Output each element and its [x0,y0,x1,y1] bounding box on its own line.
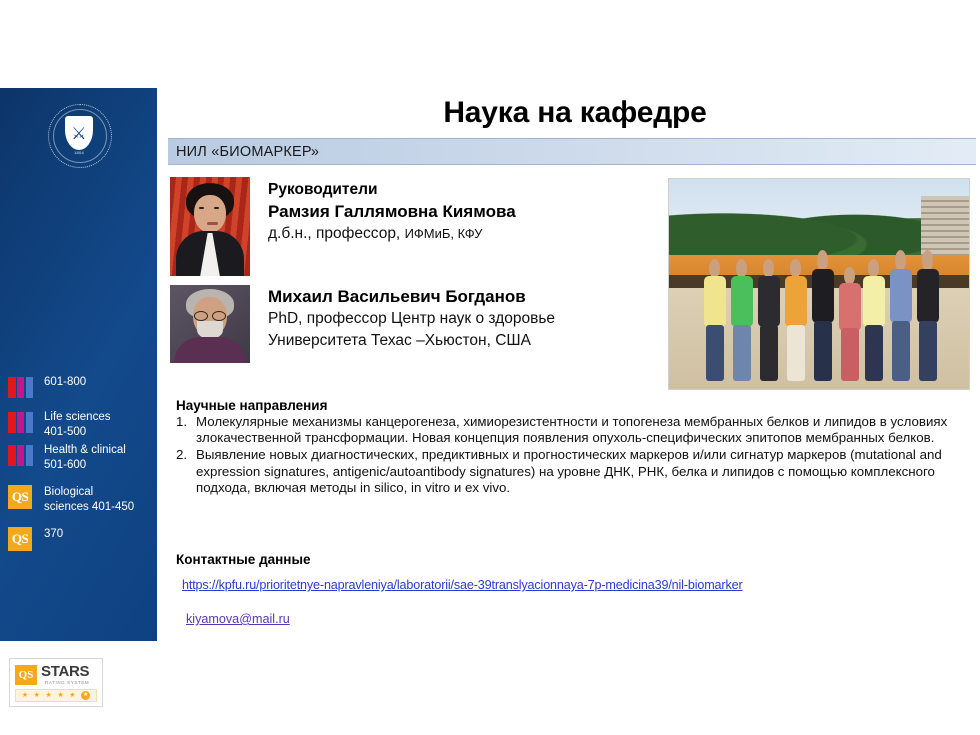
direction-number: 1. [176,414,196,446]
contacts-heading: Контактные данные [176,552,311,567]
direction-item: 2. Выявление новых диагностических, пред… [176,447,971,496]
leader-affiliation-text: ИФМиБ, КФУ [405,226,483,241]
ranking-line: Life sciences [44,410,110,425]
ranking-row-qs-biological-sciences: QS Biological sciences 401-450 [8,484,157,515]
direction-text: Выявление новых диагностических, предикт… [196,447,971,496]
qs-logo-icon: QS [8,485,32,509]
ranking-text: 370 [44,526,63,542]
star-icon: ★ [57,692,63,699]
photo-person [702,259,727,381]
qs-stars-rating-bar: ★ ★ ★ ★ ★ ★ [15,689,97,702]
leader-name-first: Рамзия Галлямовна Киямова [268,200,668,223]
ranking-row-the-life-sciences: Life sciences 401-500 [8,409,157,440]
ranking-line: sciences 401-450 [44,500,134,515]
lab-name-banner: НИЛ «БИОМАРКЕР» [168,138,976,165]
portrait-kiyamova [170,177,250,276]
qs-logo-icon: QS [8,527,32,551]
star-icon: ★ [69,692,75,699]
photo-person [756,259,781,381]
leader-affiliation-second-line2: Университета Техас –Хьюстон, США [268,330,698,352]
leader-name-second: Михаил Васильевич Богданов [268,285,698,308]
qs-stars-badge: QS STARS RATING SYSTEM ★ ★ ★ ★ ★ ★ [9,658,103,707]
photo-person [810,250,835,380]
portrait-bogdanov [170,285,250,363]
ranking-line: 370 [44,527,63,542]
star-icon-filled: ★ [81,691,90,700]
leaders-block-first: Руководители Рамзия Галлямовна Киямова д… [268,180,668,245]
leader-degree-first: д.б.н., профессор, ИФМиБ, КФУ [268,223,668,245]
ranking-row-the-health-clinical: Health & clinical 501-600 [8,442,157,473]
ranking-line: 401-500 [44,425,110,440]
the-logo-icon [8,410,34,433]
presentation-slide: ⚔ 1804 601-800 Life sciences 401-500 [0,0,980,735]
qs-stars-header: QS STARS RATING SYSTEM [15,664,97,685]
university-sidebar: ⚔ 1804 601-800 Life sciences 401-500 [0,88,157,641]
photo-person [837,267,862,380]
rankings-list: 601-800 Life sciences 401-500 Health & c… [8,374,157,553]
kfu-seal-icon: ⚔ 1804 [48,104,110,166]
photo-person [861,259,886,381]
photo-person [783,259,808,381]
leader-degree-text: д.б.н., профессор, [268,225,405,242]
qs-stars-word: STARS [41,664,89,679]
directions-heading: Научные направления [176,398,327,413]
seal-year: 1804 [48,150,110,155]
leader-affiliation-second-line1: PhD, профессор Центр наук о здоровье [268,308,698,330]
direction-item: 1. Молекулярные механизмы канцерогенеза,… [176,414,971,446]
ranking-text: 601-800 [44,374,86,390]
ranking-text: Health & clinical 501-600 [44,442,126,473]
ranking-line: 501-600 [44,458,126,473]
qs-mark-icon: QS [15,665,37,685]
page-title: Наука на кафедре [170,96,980,130]
ranking-row-the-overall: 601-800 [8,374,157,398]
lab-website-link[interactable]: https://kpfu.ru/prioritetnye-napravleniy… [182,578,743,592]
star-icon: ★ [46,692,52,699]
photo-person [729,259,754,381]
ranking-line: Biological [44,485,134,500]
photo-person [915,250,940,380]
star-icon: ★ [22,692,28,699]
ranking-line: Health & clinical [44,443,126,458]
qs-stars-subtitle: RATING SYSTEM [41,680,89,685]
the-logo-icon [8,443,34,466]
the-logo-icon [8,375,34,398]
leaders-heading: Руководители [268,180,668,200]
lab-name-label: НИЛ «БИОМАРКЕР» [168,144,319,160]
ranking-line: 601-800 [44,375,86,390]
directions-list: 1. Молекулярные механизмы канцерогенеза,… [176,414,971,497]
ranking-row-qs-overall: QS 370 [8,526,157,551]
ranking-text: Biological sciences 401-450 [44,484,134,515]
lab-group-photo [668,178,970,390]
ranking-text: Life sciences 401-500 [44,409,110,440]
leaders-block-second: Михаил Васильевич Богданов PhD, профессо… [268,285,698,352]
contact-email-link[interactable]: kiyamova@mail.ru [186,612,290,626]
star-icon: ★ [34,692,40,699]
photo-person [888,250,913,380]
direction-text: Молекулярные механизмы канцерогенеза, хи… [196,414,971,446]
direction-number: 2. [176,447,196,496]
